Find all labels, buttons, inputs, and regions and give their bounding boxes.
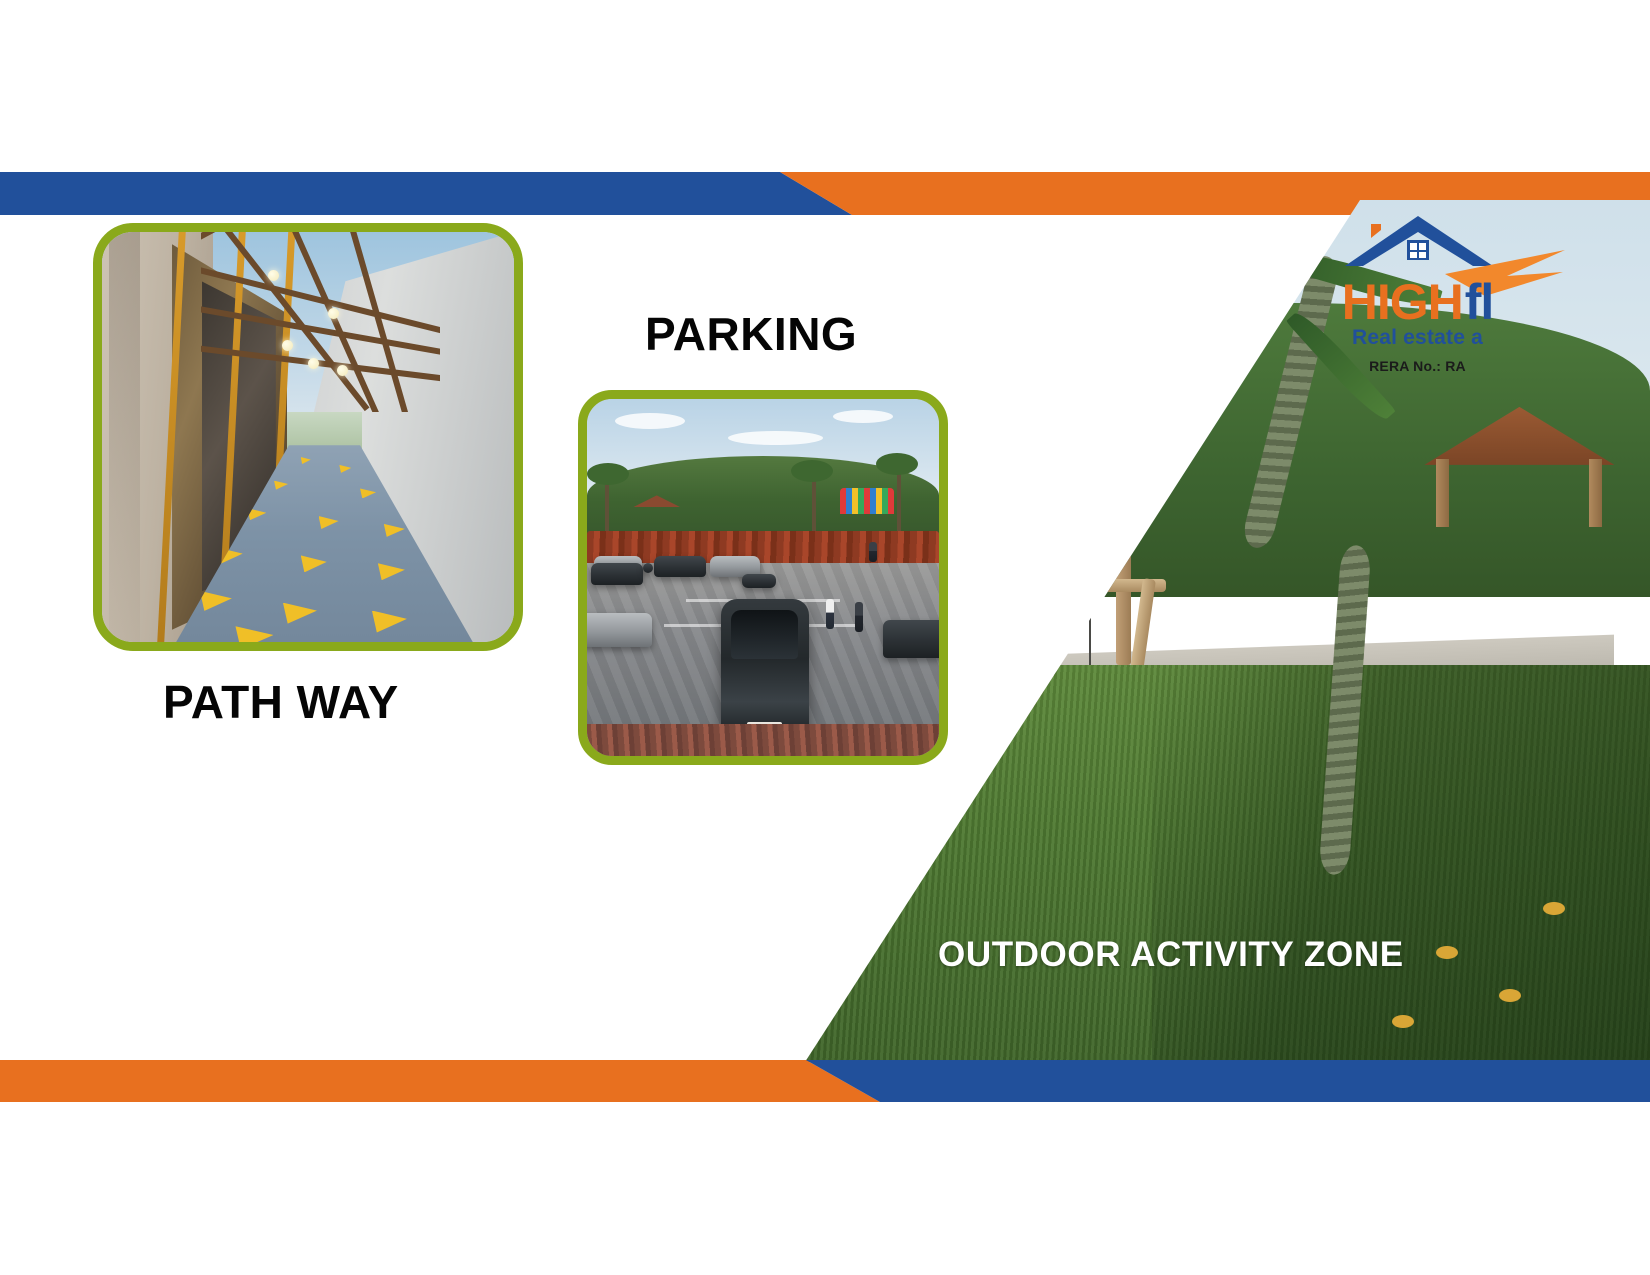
pathway-floor-marking bbox=[274, 481, 288, 490]
pathway-floor-marking bbox=[384, 524, 405, 537]
pathway-lamp bbox=[282, 340, 293, 351]
pathway-floor-marking bbox=[360, 488, 376, 498]
pathway-floor-marking bbox=[301, 457, 311, 464]
parking-foreground-hedge bbox=[587, 724, 939, 756]
outdoor-pergola-roof bbox=[938, 545, 1118, 559]
brochure-slide: PATH WAY PARKING bbox=[0, 0, 1650, 1275]
parking-playset bbox=[840, 488, 894, 514]
parking-pedestrian bbox=[869, 542, 877, 562]
logo-word-secondary: fl bbox=[1465, 274, 1494, 330]
parking-parked-car bbox=[591, 563, 643, 585]
company-logo[interactable]: HIGHfl Real estate a RERA No.: RA bbox=[1295, 212, 1540, 372]
outdoor-gazebo-post bbox=[1436, 459, 1449, 527]
outdoor-lawn-shadow bbox=[1152, 665, 1650, 1062]
parking-gazebo bbox=[633, 495, 681, 517]
pathway-lamp bbox=[328, 308, 339, 319]
outdoor-pergola-post bbox=[1116, 545, 1131, 665]
pathway-corridor-render bbox=[102, 232, 514, 642]
outdoor-gazebo bbox=[1424, 407, 1614, 527]
logo-wordmark: HIGHfl bbox=[1295, 278, 1540, 326]
pathway-floor-marking bbox=[378, 563, 405, 580]
logo-mark bbox=[1295, 212, 1540, 278]
parking-palm-crown bbox=[791, 460, 833, 482]
outdoor-gazebo-roof bbox=[1424, 407, 1614, 465]
outdoor-swing-beam bbox=[956, 579, 1166, 592]
logo-word-primary: HIGH bbox=[1342, 274, 1463, 330]
outdoor-swing-rope bbox=[1054, 597, 1056, 685]
pathway-caption: PATH WAY bbox=[163, 675, 399, 729]
pathway-floor-marking bbox=[301, 555, 327, 572]
pathway-floor-marking bbox=[319, 516, 339, 529]
pathway-lamp bbox=[337, 365, 348, 376]
pathway-floor-marking bbox=[372, 611, 407, 633]
pathway-canopy bbox=[201, 232, 440, 412]
parking-photo-card[interactable] bbox=[578, 390, 948, 765]
bottom-banner-orange-band bbox=[0, 1060, 900, 1102]
pathway-photo-card[interactable] bbox=[93, 223, 523, 651]
parking-cloud bbox=[833, 410, 893, 423]
parking-foreground-car bbox=[587, 613, 652, 647]
bottom-banner bbox=[0, 1060, 1650, 1102]
outdoor-pergola-post bbox=[956, 545, 971, 665]
parking-cloud bbox=[728, 431, 823, 445]
pathway-floor-marking bbox=[283, 603, 317, 624]
top-banner-blue-band bbox=[0, 172, 870, 215]
parking-foreground-car bbox=[883, 620, 939, 658]
pathway-lamp bbox=[308, 358, 319, 369]
outdoor-activity-zone-caption: OUTDOOR ACTIVITY ZONE bbox=[938, 935, 1404, 975]
outdoor-gazebo-post bbox=[1589, 459, 1602, 527]
outdoor-fallen-leaf bbox=[1392, 1015, 1414, 1028]
parking-lot-render bbox=[587, 399, 939, 756]
pathway-floor-marking bbox=[200, 591, 232, 611]
parking-parked-car bbox=[654, 556, 706, 577]
parking-palm-crown bbox=[876, 453, 918, 475]
outdoor-fallen-leaf bbox=[1436, 946, 1458, 959]
pathway-floor-marking bbox=[235, 626, 273, 642]
parking-hero-car bbox=[721, 599, 809, 742]
parking-pedestrian bbox=[855, 602, 863, 632]
parking-hero-car-windshield bbox=[731, 610, 798, 659]
pathway-lamp bbox=[268, 270, 279, 281]
outdoor-fallen-leaf bbox=[1499, 989, 1521, 1002]
parking-motorbike bbox=[742, 574, 776, 588]
parking-pedestrian bbox=[826, 599, 834, 629]
pathway-floor-marking bbox=[339, 465, 351, 473]
pathway-beam bbox=[201, 232, 368, 252]
logo-rera-number: RERA No.: RA bbox=[1295, 358, 1540, 374]
parking-caption: PARKING bbox=[645, 307, 857, 361]
pathway-beam bbox=[218, 232, 370, 411]
